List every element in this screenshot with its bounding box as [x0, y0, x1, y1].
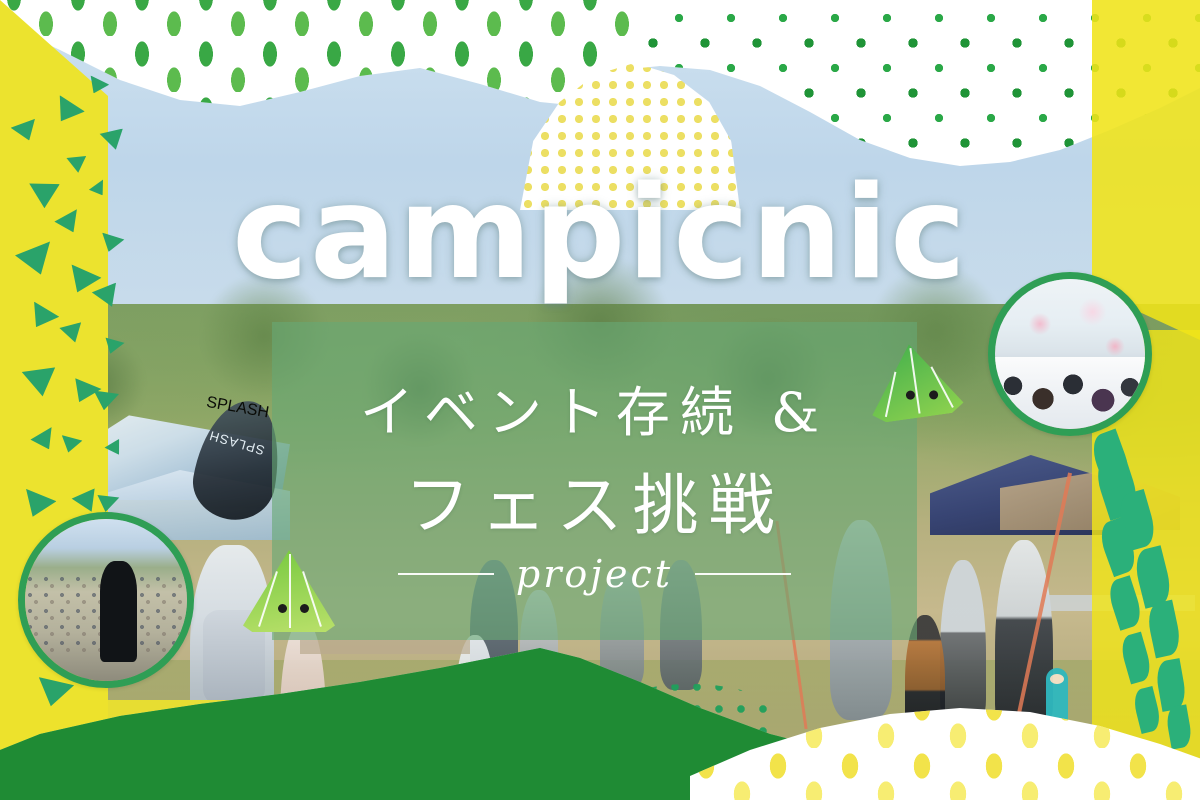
tent-character-right — [863, 338, 964, 424]
festival-crowd-photo-badge — [988, 272, 1152, 436]
person-silhouette — [995, 540, 1053, 740]
person-silhouette — [940, 560, 986, 730]
headline-line-2: フェス挑戦 — [272, 452, 917, 548]
stage-performer-photo — [25, 519, 187, 681]
divider-right — [695, 573, 791, 575]
tent-seam — [289, 554, 291, 628]
eye-icon — [278, 604, 287, 613]
market-table — [300, 640, 470, 654]
project-label-row: project — [272, 552, 917, 596]
poster-canvas: SPLASH campicnic — [0, 0, 1200, 800]
eye-icon — [300, 604, 309, 613]
stage-performer-photo-badge — [18, 512, 194, 688]
project-label: project — [516, 552, 673, 596]
festival-crowd-photo — [995, 279, 1145, 429]
mascot-figure — [1046, 668, 1068, 724]
tent-character-left — [243, 550, 335, 632]
divider-left — [398, 573, 494, 575]
headline-line-1: イベント存続 & — [272, 368, 917, 447]
